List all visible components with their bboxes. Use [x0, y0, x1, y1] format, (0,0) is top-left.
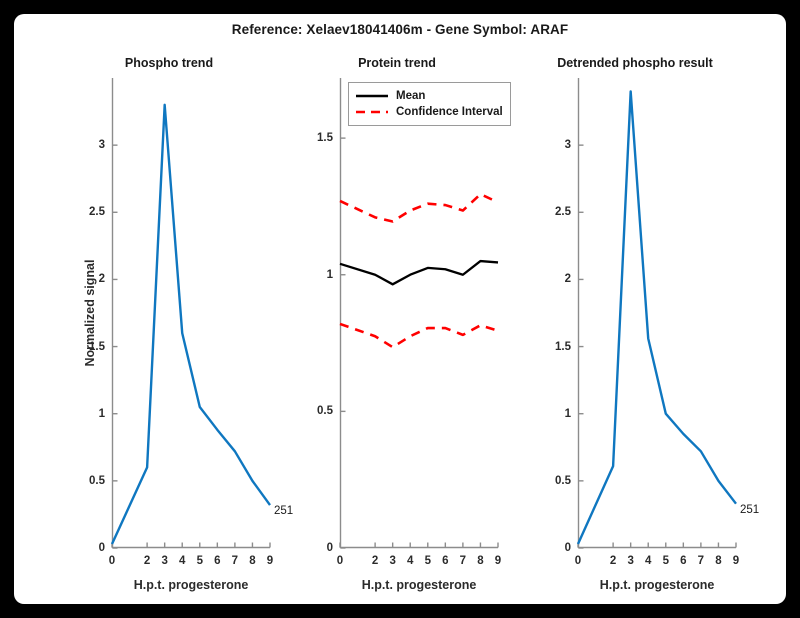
- screenshot-root: Reference: Xelaev18041406m - Gene Symbol…: [0, 0, 800, 618]
- x-tick-label: 6: [680, 555, 686, 567]
- legend-swatch-ci-icon: [355, 106, 389, 118]
- x-tick-label: 2: [144, 555, 150, 567]
- legend-item-mean: Mean: [355, 88, 503, 104]
- x-tick-label: 6: [442, 555, 448, 567]
- figure-canvas: Reference: Xelaev18041406m - Gene Symbol…: [14, 14, 786, 604]
- y-tick-label: 1: [327, 269, 333, 281]
- x-tick-label: 5: [663, 555, 669, 567]
- figure-title: Reference: Xelaev18041406m - Gene Symbol…: [14, 22, 786, 37]
- legend-label-mean: Mean: [396, 90, 425, 102]
- x-axis-label-phospho: H.p.t. progesterone: [112, 578, 270, 592]
- x-tick-label: 3: [161, 555, 167, 567]
- y-tick-label: 1: [565, 408, 571, 420]
- y-tick-label: 1.5: [555, 341, 571, 353]
- y-tick-label: 0: [99, 542, 105, 554]
- x-tick-label: 4: [179, 555, 185, 567]
- y-tick-label: 2: [99, 273, 105, 285]
- panel-title-detrended: Detrended phospho result: [520, 56, 750, 70]
- x-tick-label: 4: [407, 555, 413, 567]
- y-tick-label: 2.5: [89, 206, 105, 218]
- y-tick-label: 0.5: [317, 405, 333, 417]
- panel-phospho-trend: Phospho trend Normalized signal H.p.t. p…: [60, 44, 278, 589]
- y-tick-label: 1.5: [317, 132, 333, 144]
- y-tick-label: 0.5: [555, 475, 571, 487]
- y-tick-label: 0: [327, 542, 333, 554]
- x-tick-label: 0: [109, 555, 115, 567]
- y-tick-label: 1.5: [89, 341, 105, 353]
- x-tick-label: 2: [610, 555, 616, 567]
- chart-svg-protein: [340, 78, 498, 548]
- plot-area-detrended: H.p.t. progesterone 251 00.511.522.53023…: [578, 78, 736, 548]
- end-label-detrended: 251: [740, 504, 759, 516]
- x-axis-label-detrended: H.p.t. progesterone: [578, 578, 736, 592]
- y-tick-label: 2.5: [555, 206, 571, 218]
- x-tick-label: 7: [460, 555, 466, 567]
- y-tick-label: 3: [565, 139, 571, 151]
- x-tick-label: 7: [698, 555, 704, 567]
- panel-detrended-phospho: Detrended phospho result H.p.t. progeste…: [520, 44, 750, 589]
- x-tick-label: 8: [477, 555, 483, 567]
- x-tick-label: 5: [197, 555, 203, 567]
- panel-title-protein: Protein trend: [288, 56, 506, 70]
- x-tick-label: 5: [425, 555, 431, 567]
- y-tick-label: 1: [99, 408, 105, 420]
- plot-area-phospho: Normalized signal H.p.t. progesterone 25…: [112, 78, 270, 548]
- legend-protein: Mean Confidence Interval: [348, 82, 511, 126]
- x-tick-label: 0: [337, 555, 343, 567]
- legend-swatch-mean-icon: [355, 90, 389, 102]
- x-tick-label: 7: [232, 555, 238, 567]
- plot-area-protein: H.p.t. progesterone Mean: [340, 78, 498, 548]
- x-tick-label: 9: [495, 555, 501, 567]
- y-tick-label: 0: [565, 542, 571, 554]
- x-tick-label: 8: [715, 555, 721, 567]
- x-tick-label: 2: [372, 555, 378, 567]
- x-tick-label: 8: [249, 555, 255, 567]
- legend-label-ci: Confidence Interval: [396, 106, 503, 118]
- x-tick-label: 6: [214, 555, 220, 567]
- chart-svg-detrended: [578, 78, 736, 548]
- panel-protein-trend: Protein trend H.p.t. progesterone Mean: [288, 44, 506, 589]
- panel-title-phospho: Phospho trend: [60, 56, 278, 70]
- x-tick-label: 9: [267, 555, 273, 567]
- x-tick-label: 4: [645, 555, 651, 567]
- x-axis-label-protein: H.p.t. progesterone: [340, 578, 498, 592]
- y-tick-label: 3: [99, 139, 105, 151]
- y-tick-label: 2: [565, 273, 571, 285]
- x-tick-label: 3: [389, 555, 395, 567]
- x-tick-label: 0: [575, 555, 581, 567]
- y-tick-label: 0.5: [89, 475, 105, 487]
- chart-svg-phospho: [112, 78, 270, 548]
- x-tick-label: 9: [733, 555, 739, 567]
- legend-item-confidence-interval: Confidence Interval: [355, 104, 503, 120]
- x-tick-label: 3: [627, 555, 633, 567]
